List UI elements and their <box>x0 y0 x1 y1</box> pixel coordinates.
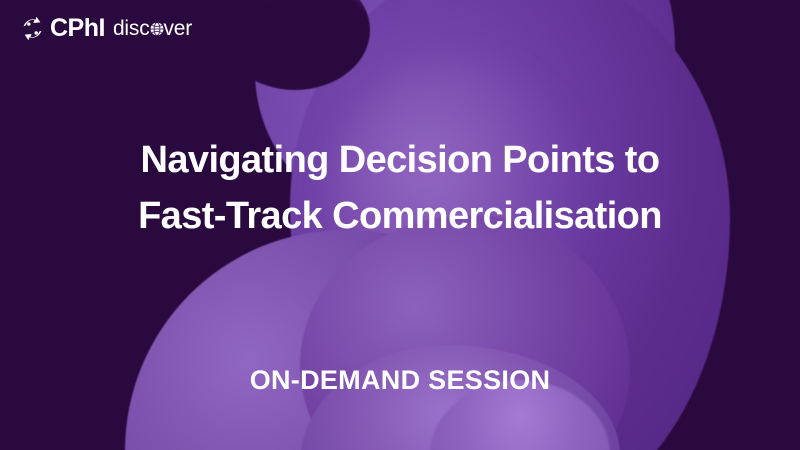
brand-logo[interactable]: CPhI disc ver <box>20 16 192 41</box>
slide-canvas: CPhI disc ver Navigating Decision Points… <box>0 0 800 450</box>
circular-arrows-icon <box>20 16 45 41</box>
session-type-caption: ON-DEMAND SESSION <box>0 367 800 394</box>
logo-wordmark: CPhI <box>50 16 105 41</box>
globe-icon <box>150 18 164 39</box>
logo-sub-text-after: ver <box>164 18 193 39</box>
headline-line-1: Navigating Decision Points to <box>60 132 740 188</box>
headline-line-2: Fast-Track Commercialisation <box>60 188 740 244</box>
logo-sub-wordmark: disc ver <box>113 18 192 39</box>
headline-block: Navigating Decision Points to Fast-Track… <box>0 132 800 244</box>
logo-sub-text-before: disc <box>113 18 150 39</box>
